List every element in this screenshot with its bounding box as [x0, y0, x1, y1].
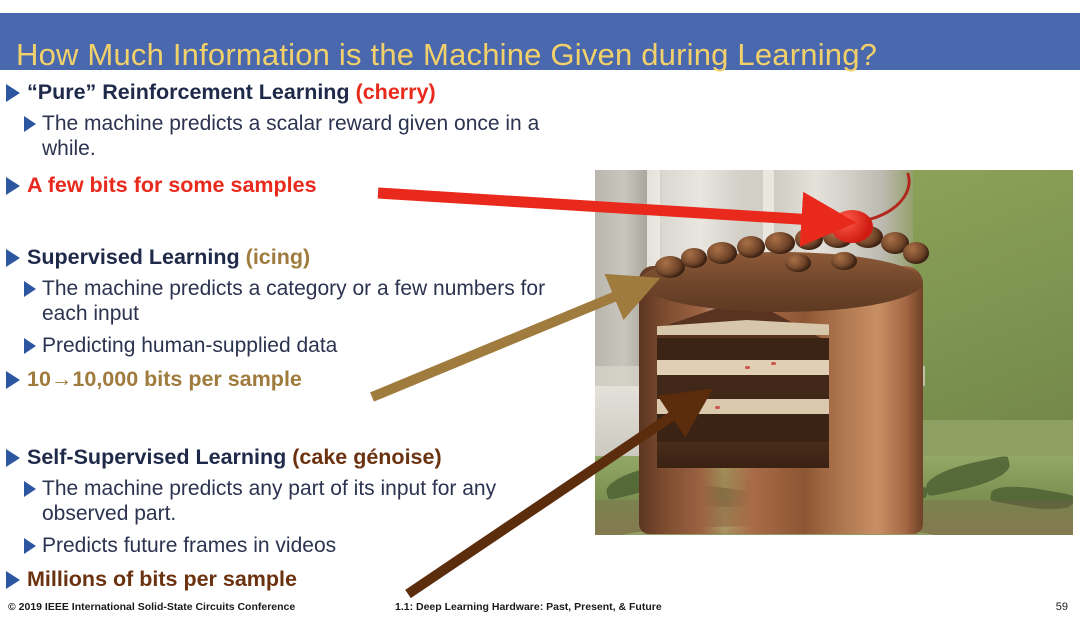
cake-cream-layer: [657, 399, 829, 414]
bullet-item-text: Millions of bits per sample: [27, 567, 297, 592]
triangle-bullet-icon: [24, 338, 36, 354]
triangle-bullet-icon: [24, 538, 36, 554]
slide-canvas: How Much Information is the Machine Give…: [0, 0, 1080, 617]
bullet-item-text: The machine predicts a category or a few…: [42, 276, 575, 326]
bullet-item-highlight: Millions of bits per sample: [0, 567, 600, 592]
bullet-heading: “Pure” Reinforcement Learning (cherry): [0, 80, 600, 105]
triangle-bullet-icon: [6, 571, 20, 589]
triangle-bullet-icon: [6, 449, 20, 467]
bullet-item-text: A few bits for some samples: [27, 173, 317, 198]
author-label: Y. LeCun: [1027, 0, 1078, 13]
bullet-heading-accent: (icing): [246, 245, 311, 269]
bullet-heading-text: Self-Supervised Learning: [27, 445, 286, 469]
footer-copyright: © 2019 IEEE International Solid-State Ci…: [8, 600, 295, 614]
bullet-group-self-supervised-learning: Self-Supervised Learning (cake génoise) …: [0, 445, 600, 592]
cake-sponge-layer: [657, 375, 829, 399]
footer-page-number: 59: [1056, 600, 1068, 614]
bullet-group-reinforcement-learning: “Pure” Reinforcement Learning (cherry) T…: [0, 80, 600, 198]
bullet-item-highlight: 10→10,000 bits per sample: [0, 367, 600, 392]
triangle-bullet-icon: [24, 481, 36, 497]
triangle-bullet-icon: [24, 116, 36, 132]
bullet-heading-text: “Pure” Reinforcement Learning: [27, 80, 350, 104]
triangle-bullet-icon: [6, 371, 20, 389]
cake-sponge-layer: [657, 338, 829, 360]
cake-sponge-layer: [657, 414, 829, 442]
title-bar: How Much Information is the Machine Give…: [0, 13, 1080, 70]
cake-crumb-base: [657, 442, 829, 468]
bullet-content: “Pure” Reinforcement Learning (cherry) T…: [0, 74, 600, 604]
bullet-item-text: Predicting human-supplied data: [42, 333, 337, 358]
triangle-bullet-icon: [24, 281, 36, 297]
bullet-item: The machine predicts a scalar reward giv…: [0, 111, 565, 161]
bullet-item: The machine predicts any part of its inp…: [0, 476, 560, 526]
footer-session-title: 1.1: Deep Learning Hardware: Past, Prese…: [395, 600, 662, 614]
triangle-bullet-icon: [6, 249, 20, 267]
bullet-item: Predicts future frames in videos: [0, 533, 600, 558]
bullet-heading: Supervised Learning (icing): [0, 245, 600, 270]
cake-photo: [595, 170, 1073, 535]
bullet-heading-text: Supervised Learning: [27, 245, 240, 269]
bullet-item-text: The machine predicts any part of its inp…: [42, 476, 560, 526]
bullet-item-highlight: A few bits for some samples: [0, 173, 600, 198]
bullet-heading: Self-Supervised Learning (cake génoise): [0, 445, 600, 470]
cake-cream-layer: [657, 360, 829, 375]
bullet-item-text: 10→10,000 bits per sample: [27, 367, 302, 392]
bullet-item-text: Predicts future frames in videos: [42, 533, 336, 558]
triangle-bullet-icon: [6, 177, 20, 195]
bullet-heading-accent: (cake génoise): [292, 445, 441, 469]
slide-footer: © 2019 IEEE International Solid-State Ci…: [0, 598, 1080, 617]
photo-background-green: [913, 170, 1073, 420]
cherry-icon: [831, 210, 873, 243]
bullet-item-text: The machine predicts a scalar reward giv…: [42, 111, 565, 161]
triangle-bullet-icon: [6, 84, 20, 102]
bullet-item: The machine predicts a category or a few…: [0, 276, 575, 326]
bullet-heading-accent: (cherry): [356, 80, 436, 104]
bullet-item: Predicting human-supplied data: [0, 333, 600, 358]
bullet-group-supervised-learning: Supervised Learning (icing) The machine …: [0, 245, 600, 392]
